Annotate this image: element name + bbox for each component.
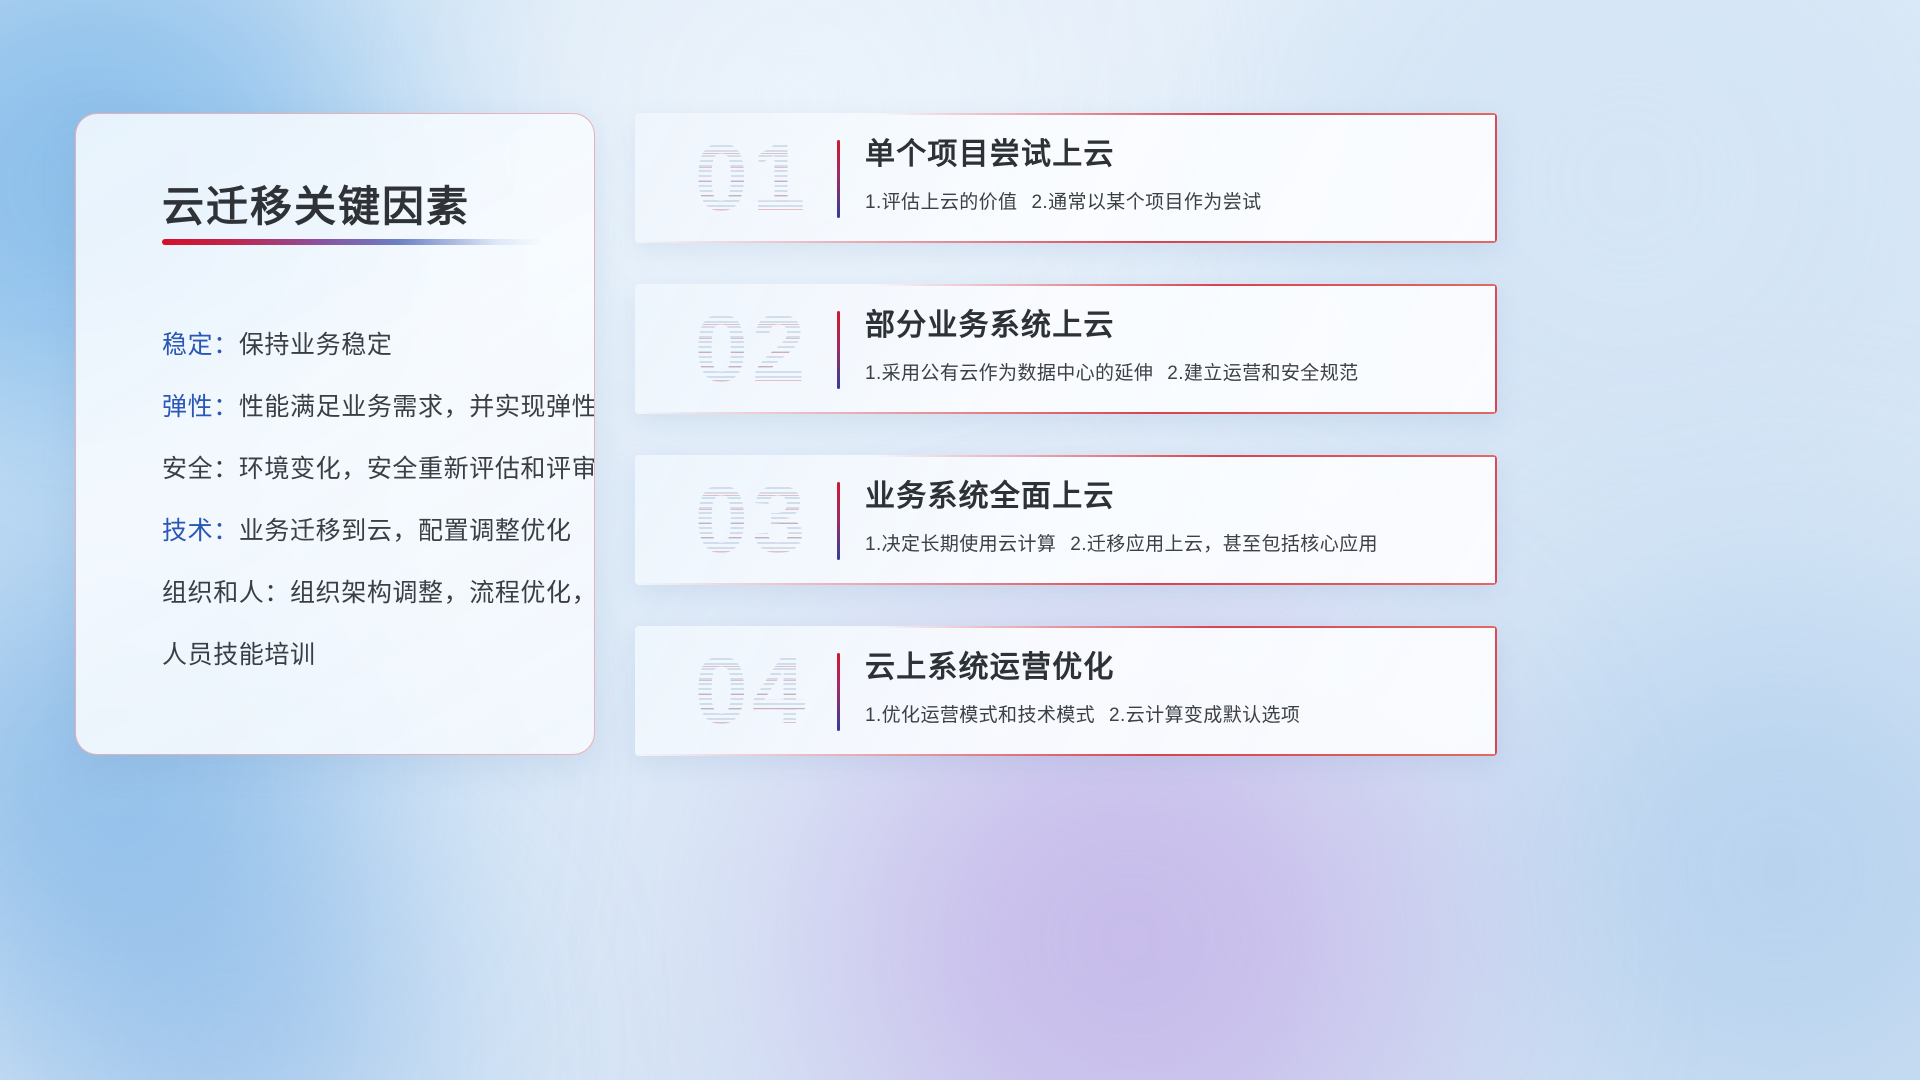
card-desc-part-1: 1.优化运营模式和技术模式 — [865, 705, 1095, 726]
card-description: 1.优化运营模式和技术模式2.云计算变成默认选项 — [865, 700, 1471, 727]
card-right-edge — [1495, 113, 1497, 243]
list-item: 技术：业务迁移到云，配置调整优化 — [106, 500, 576, 562]
stage-card[interactable]: 03 03 业务系统全面上云 1.决定长期使用云计算2.迁移应用上云，甚至包括核… — [635, 455, 1497, 585]
accent-divider-bar — [837, 311, 840, 389]
list-item: 安全：环境变化，安全重新评估和评审 — [106, 438, 576, 500]
factor-label: 安全： — [162, 455, 239, 483]
factor-text: 人员技能培训 — [162, 641, 316, 669]
card-desc-part-1: 1.采用公有云作为数据中心的延伸 — [865, 363, 1153, 384]
accent-divider-bar — [837, 140, 840, 218]
factor-text: 业务迁移到云，配置调整优化 — [239, 517, 572, 545]
card-title: 部分业务系统上云 — [865, 306, 1471, 346]
card-body: 单个项目尝试上云 1.评估上云的价值2.通常以某个项目作为尝试 — [865, 135, 1471, 214]
card-right-edge — [1495, 455, 1497, 585]
accent-divider-bar — [837, 653, 840, 731]
factor-text: 组织架构调整，流程优化， — [290, 579, 595, 607]
stage-number-watermark-tint: 02 — [657, 296, 847, 402]
factor-label: 技术： — [162, 517, 239, 545]
stage-card[interactable]: 02 02 部分业务系统上云 1.采用公有云作为数据中心的延伸2.建立运营和安全… — [635, 284, 1497, 414]
list-item: 人员技能培训 — [106, 624, 576, 686]
title-underline-rule — [162, 239, 542, 245]
card-title: 云上系统运营优化 — [865, 648, 1471, 688]
page-title: 云迁移关键因素 — [162, 173, 470, 234]
factor-label: 弹性： — [162, 393, 239, 421]
stage-number-watermark-tint: 03 — [657, 467, 847, 573]
factor-text: 环境变化，安全重新评估和评审 — [239, 455, 595, 483]
card-body: 部分业务系统上云 1.采用公有云作为数据中心的延伸2.建立运营和安全规范 — [865, 306, 1471, 385]
factor-text: 保持业务稳定 — [239, 331, 393, 359]
card-desc-part-2: 2.通常以某个项目作为尝试 — [1031, 192, 1261, 213]
key-factors-panel: 云迁移关键因素 稳定：保持业务稳定 弹性：性能满足业务需求，并实现弹性 安全：环… — [75, 113, 595, 755]
card-desc-part-2: 2.云计算变成默认选项 — [1109, 705, 1300, 726]
card-title: 业务系统全面上云 — [865, 477, 1471, 517]
list-item: 弹性：性能满足业务需求，并实现弹性 — [106, 376, 576, 438]
list-item: 稳定：保持业务稳定 — [106, 314, 576, 376]
card-title: 单个项目尝试上云 — [865, 135, 1471, 175]
stage-card[interactable]: 01 01 单个项目尝试上云 1.评估上云的价值2.通常以某个项目作为尝试 — [635, 113, 1497, 243]
stage-number-watermark-tint: 01 — [657, 125, 847, 231]
card-description: 1.决定长期使用云计算2.迁移应用上云，甚至包括核心应用 — [865, 529, 1471, 556]
factor-label: 组织和人： — [162, 579, 290, 607]
card-right-edge — [1495, 284, 1497, 414]
card-description: 1.采用公有云作为数据中心的延伸2.建立运营和安全规范 — [865, 358, 1471, 385]
card-desc-part-1: 1.评估上云的价值 — [865, 192, 1017, 213]
factor-text: 性能满足业务需求，并实现弹性 — [239, 393, 595, 421]
factor-label: 稳定： — [162, 331, 239, 359]
card-body: 业务系统全面上云 1.决定长期使用云计算2.迁移应用上云，甚至包括核心应用 — [865, 477, 1471, 556]
stage-card[interactable]: 04 04 云上系统运营优化 1.优化运营模式和技术模式2.云计算变成默认选项 — [635, 626, 1497, 756]
card-desc-part-2: 2.建立运营和安全规范 — [1167, 363, 1358, 384]
card-right-edge — [1495, 626, 1497, 756]
list-item: 组织和人：组织架构调整，流程优化， — [106, 562, 576, 624]
card-body: 云上系统运营优化 1.优化运营模式和技术模式2.云计算变成默认选项 — [865, 648, 1471, 727]
card-desc-part-1: 1.决定长期使用云计算 — [865, 534, 1056, 555]
card-desc-part-2: 2.迁移应用上云，甚至包括核心应用 — [1070, 534, 1378, 555]
accent-divider-bar — [837, 482, 840, 560]
card-description: 1.评估上云的价值2.通常以某个项目作为尝试 — [865, 187, 1471, 214]
stage-number-watermark-tint: 04 — [657, 638, 847, 744]
stage-cards-list: 01 01 单个项目尝试上云 1.评估上云的价值2.通常以某个项目作为尝试 02… — [635, 113, 1497, 797]
key-factors-list: 稳定：保持业务稳定 弹性：性能满足业务需求，并实现弹性 安全：环境变化，安全重新… — [106, 314, 576, 686]
